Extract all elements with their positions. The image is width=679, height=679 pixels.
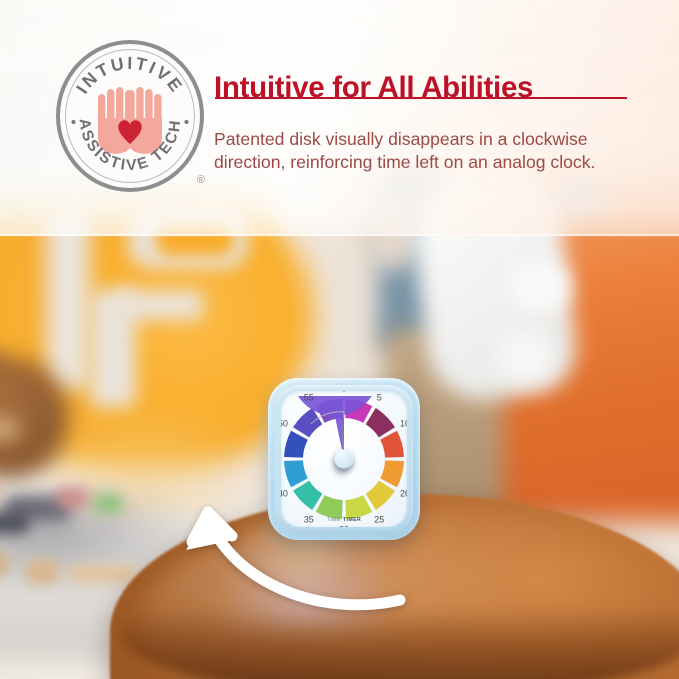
curved-arrow-up-left-icon bbox=[172, 492, 422, 622]
toy-item bbox=[0, 552, 8, 576]
dial-segment bbox=[380, 460, 404, 487]
mural-detail bbox=[114, 290, 204, 320]
badge-artwork: INTUITIVE ASSISTIVE TECH bbox=[56, 40, 204, 192]
mural-detail bbox=[46, 212, 90, 390]
badge-dot bbox=[184, 120, 188, 124]
timer-knob[interactable] bbox=[335, 450, 354, 469]
child-foot bbox=[496, 330, 554, 382]
product-lifestyle-image: 0510152025303540455055 TIME TIMER bbox=[0, 0, 679, 679]
intuitive-assistive-tech-badge: INTUITIVE ASSISTIVE TECH ® bbox=[56, 40, 204, 192]
page-title: Intuitive for All Abilities bbox=[214, 72, 644, 104]
dial-segment bbox=[284, 460, 308, 487]
description-text: Patented disk visually disappears in a c… bbox=[214, 128, 614, 175]
toy-item bbox=[0, 512, 30, 534]
dial-number-0: 0 bbox=[341, 391, 346, 393]
header-bottom-edge bbox=[0, 234, 679, 237]
dial-segment bbox=[284, 431, 308, 458]
toy-item bbox=[56, 488, 90, 508]
badge-dot bbox=[71, 120, 75, 124]
dial-number-50: 50 bbox=[281, 419, 288, 428]
hands-heart-icon bbox=[98, 87, 162, 154]
toy-item bbox=[68, 566, 138, 582]
dial-segment bbox=[380, 431, 404, 458]
dial-number-55: 55 bbox=[304, 393, 314, 402]
toy-item bbox=[26, 560, 58, 584]
registered-mark: ® bbox=[197, 174, 205, 186]
dial-segment bbox=[366, 408, 395, 437]
dial-number-5: 5 bbox=[377, 393, 382, 402]
toy-item bbox=[92, 494, 124, 514]
headline-underline bbox=[215, 97, 627, 99]
child-foot bbox=[508, 260, 570, 312]
dial-number-10: 10 bbox=[400, 419, 407, 428]
